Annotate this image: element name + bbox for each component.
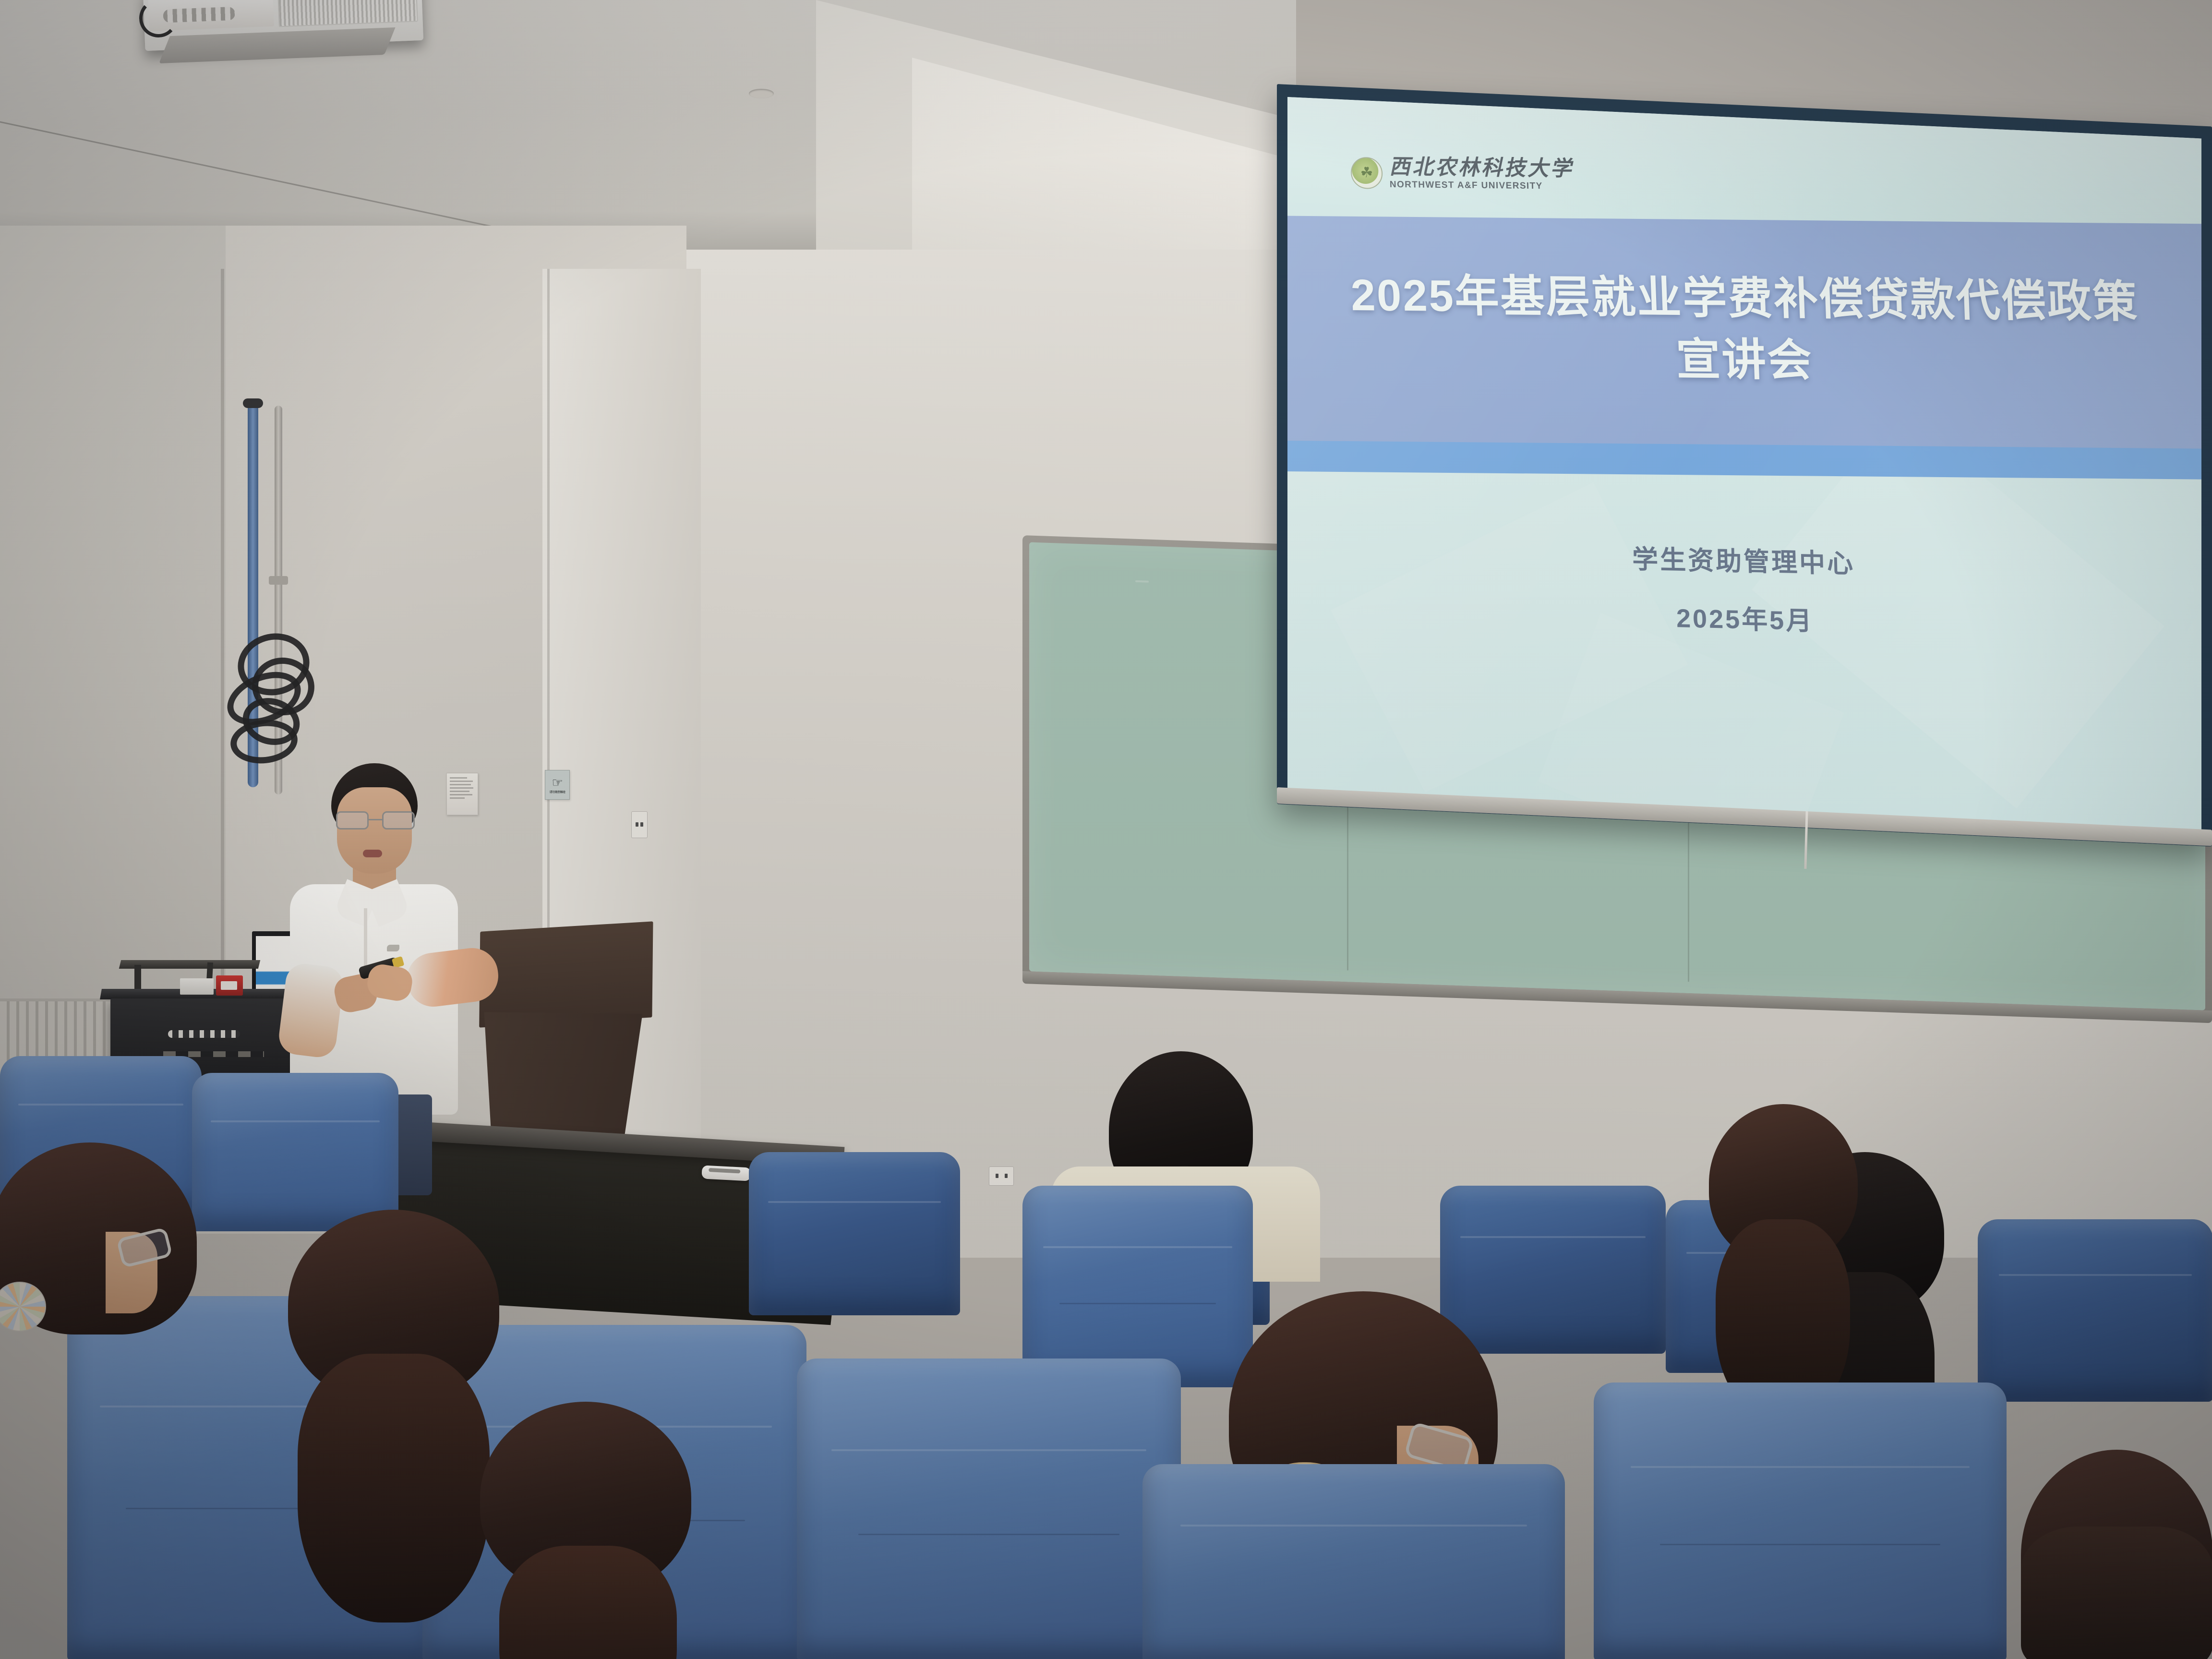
slide-footer: 学生资助管理中心 2025年5月 bbox=[1287, 530, 2201, 666]
ceiling-sprinkler-icon bbox=[749, 89, 774, 98]
auditorium-seat[interactable] bbox=[1142, 1464, 1565, 1659]
wall-sign-caption: 请勿随意触碰 bbox=[549, 790, 565, 794]
presenter-left-arm bbox=[277, 962, 345, 1059]
slide-title-line-1: 2025年基层就业学费补偿贷款代偿政策 bbox=[1287, 259, 2201, 331]
av-red-device bbox=[216, 975, 243, 996]
eyeglasses-icon bbox=[335, 811, 416, 829]
presenter-face bbox=[337, 787, 412, 874]
auditorium-seat[interactable] bbox=[797, 1358, 1181, 1659]
audience-head bbox=[1709, 1104, 1858, 1262]
projection-screen: ☘ 西北农林科技大学 NORTHWEST A&F UNIVERSITY 2025… bbox=[1277, 84, 2212, 846]
university-name-cn: 西北农林科技大学 bbox=[1389, 156, 1574, 180]
audience-head bbox=[480, 1402, 691, 1594]
lecture-hall-photo: ☞ 请勿随意触碰 bbox=[0, 0, 2212, 1659]
auditorium-seat[interactable] bbox=[749, 1152, 960, 1315]
remote-control[interactable] bbox=[701, 1165, 751, 1181]
av-white-box bbox=[180, 978, 214, 995]
seal-glyph: ☘ bbox=[1360, 166, 1373, 180]
auditorium-seat[interactable] bbox=[1022, 1186, 1253, 1387]
auditorium-seat[interactable] bbox=[192, 1073, 398, 1231]
screen-surface: ☘ 西北农林科技大学 NORTHWEST A&F UNIVERSITY 2025… bbox=[1287, 97, 2201, 831]
wall-switch[interactable] bbox=[631, 811, 648, 838]
shirt-logo-icon bbox=[387, 945, 399, 951]
conduit-clamp bbox=[269, 576, 288, 585]
slide-footer-date: 2025年5月 bbox=[1287, 589, 2201, 646]
pointing-hand-icon: ☞ bbox=[552, 776, 563, 789]
audience-head bbox=[2021, 1450, 2212, 1659]
university-logo: ☘ 西北农林科技大学 NORTHWEST A&F UNIVERSITY bbox=[1350, 156, 1574, 192]
projector bbox=[143, 0, 423, 51]
auditorium-seat[interactable] bbox=[1978, 1219, 2212, 1402]
audience-head bbox=[288, 1210, 499, 1402]
university-name-en: NORTHWEST A&F UNIVERSITY bbox=[1390, 180, 1575, 192]
wall-outlet bbox=[989, 1166, 1014, 1186]
slide-footer-org: 学生资助管理中心 bbox=[1287, 530, 2201, 588]
presentation-slide: ☘ 西北农林科技大学 NORTHWEST A&F UNIVERSITY 2025… bbox=[1287, 97, 2201, 831]
pipe-collar bbox=[243, 398, 263, 408]
wall-sign: ☞ 请勿随意触碰 bbox=[545, 770, 570, 800]
slide-title-line-2: 宣讲会 bbox=[1287, 320, 2201, 392]
audience-head bbox=[0, 1142, 197, 1334]
wall-corner-edge bbox=[221, 269, 224, 1037]
auditorium-seat[interactable] bbox=[1594, 1382, 2007, 1659]
university-seal-icon: ☘ bbox=[1350, 157, 1383, 189]
